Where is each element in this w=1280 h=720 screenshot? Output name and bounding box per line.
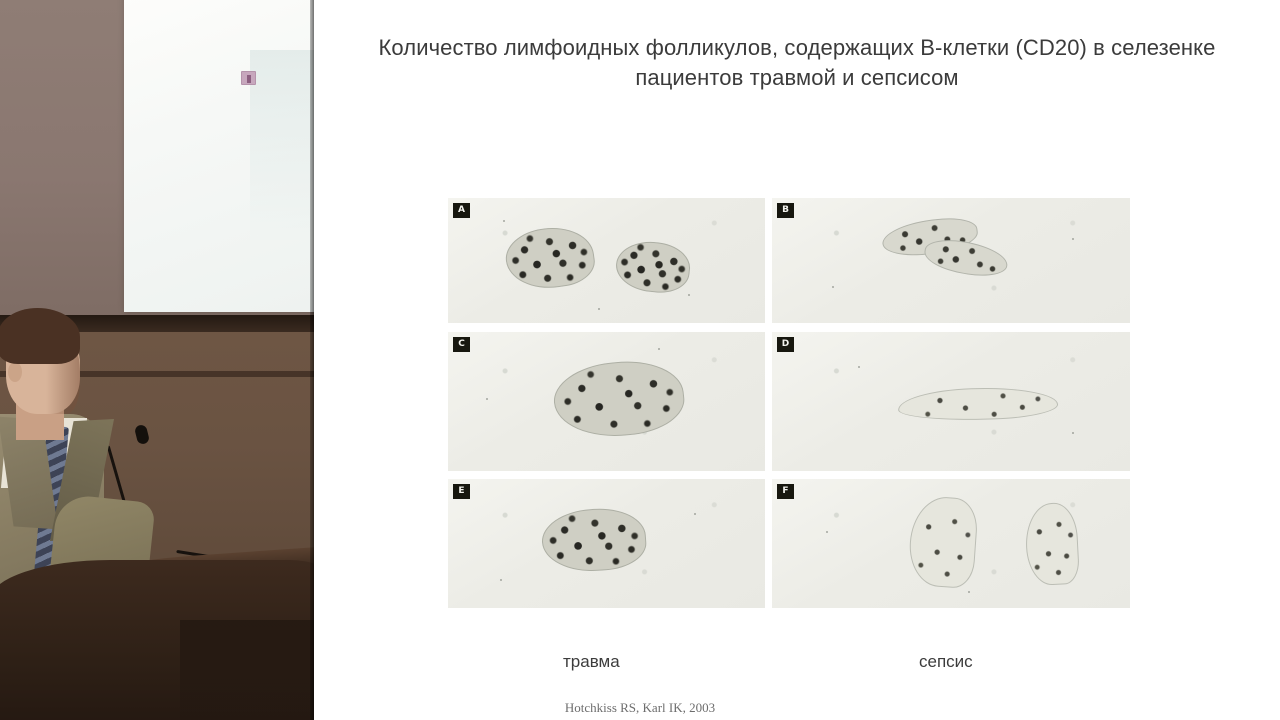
slide-title: Количество лимфоидных фолликулов, содерж…: [374, 33, 1220, 93]
micrograph-background: [448, 198, 765, 323]
panel-label-e: E: [453, 484, 470, 499]
column-caption-trauma: травма: [563, 652, 620, 672]
micrograph-panel-c[interactable]: C: [448, 332, 765, 471]
screen-marker: [241, 71, 256, 85]
panel-label-f: F: [777, 484, 794, 499]
speaker-hair: [0, 308, 80, 364]
projection-screen: [124, 0, 314, 312]
screen-root: Количество лимфоидных фолликулов, содерж…: [0, 0, 1280, 720]
figure-citation: Hotchkiss RS, Karl IK, 2003: [0, 700, 1280, 716]
micrograph-panel-b[interactable]: B: [772, 198, 1130, 323]
panel-label-a: A: [453, 203, 470, 218]
figure-row: E F: [448, 479, 1130, 608]
figure-row: A B: [448, 198, 1130, 323]
column-caption-sepsis: сепсис: [919, 652, 973, 672]
micrograph-panel-f[interactable]: F: [772, 479, 1130, 608]
speaker-ear: [8, 362, 22, 382]
micrograph-panel-d[interactable]: D: [772, 332, 1130, 471]
figure-row: C D: [448, 332, 1130, 471]
cd20-immunohistochemistry-figure: A B C: [448, 198, 1130, 608]
panel-label-c: C: [453, 337, 470, 352]
panel-label-b: B: [777, 203, 794, 218]
panel-label-d: D: [777, 337, 794, 352]
lecture-speaker-video[interactable]: [0, 0, 314, 720]
presentation-slide: Количество лимфоидных фолликулов, содерж…: [314, 0, 1280, 720]
micrograph-panel-e[interactable]: E: [448, 479, 765, 608]
micrograph-panel-a[interactable]: A: [448, 198, 765, 323]
